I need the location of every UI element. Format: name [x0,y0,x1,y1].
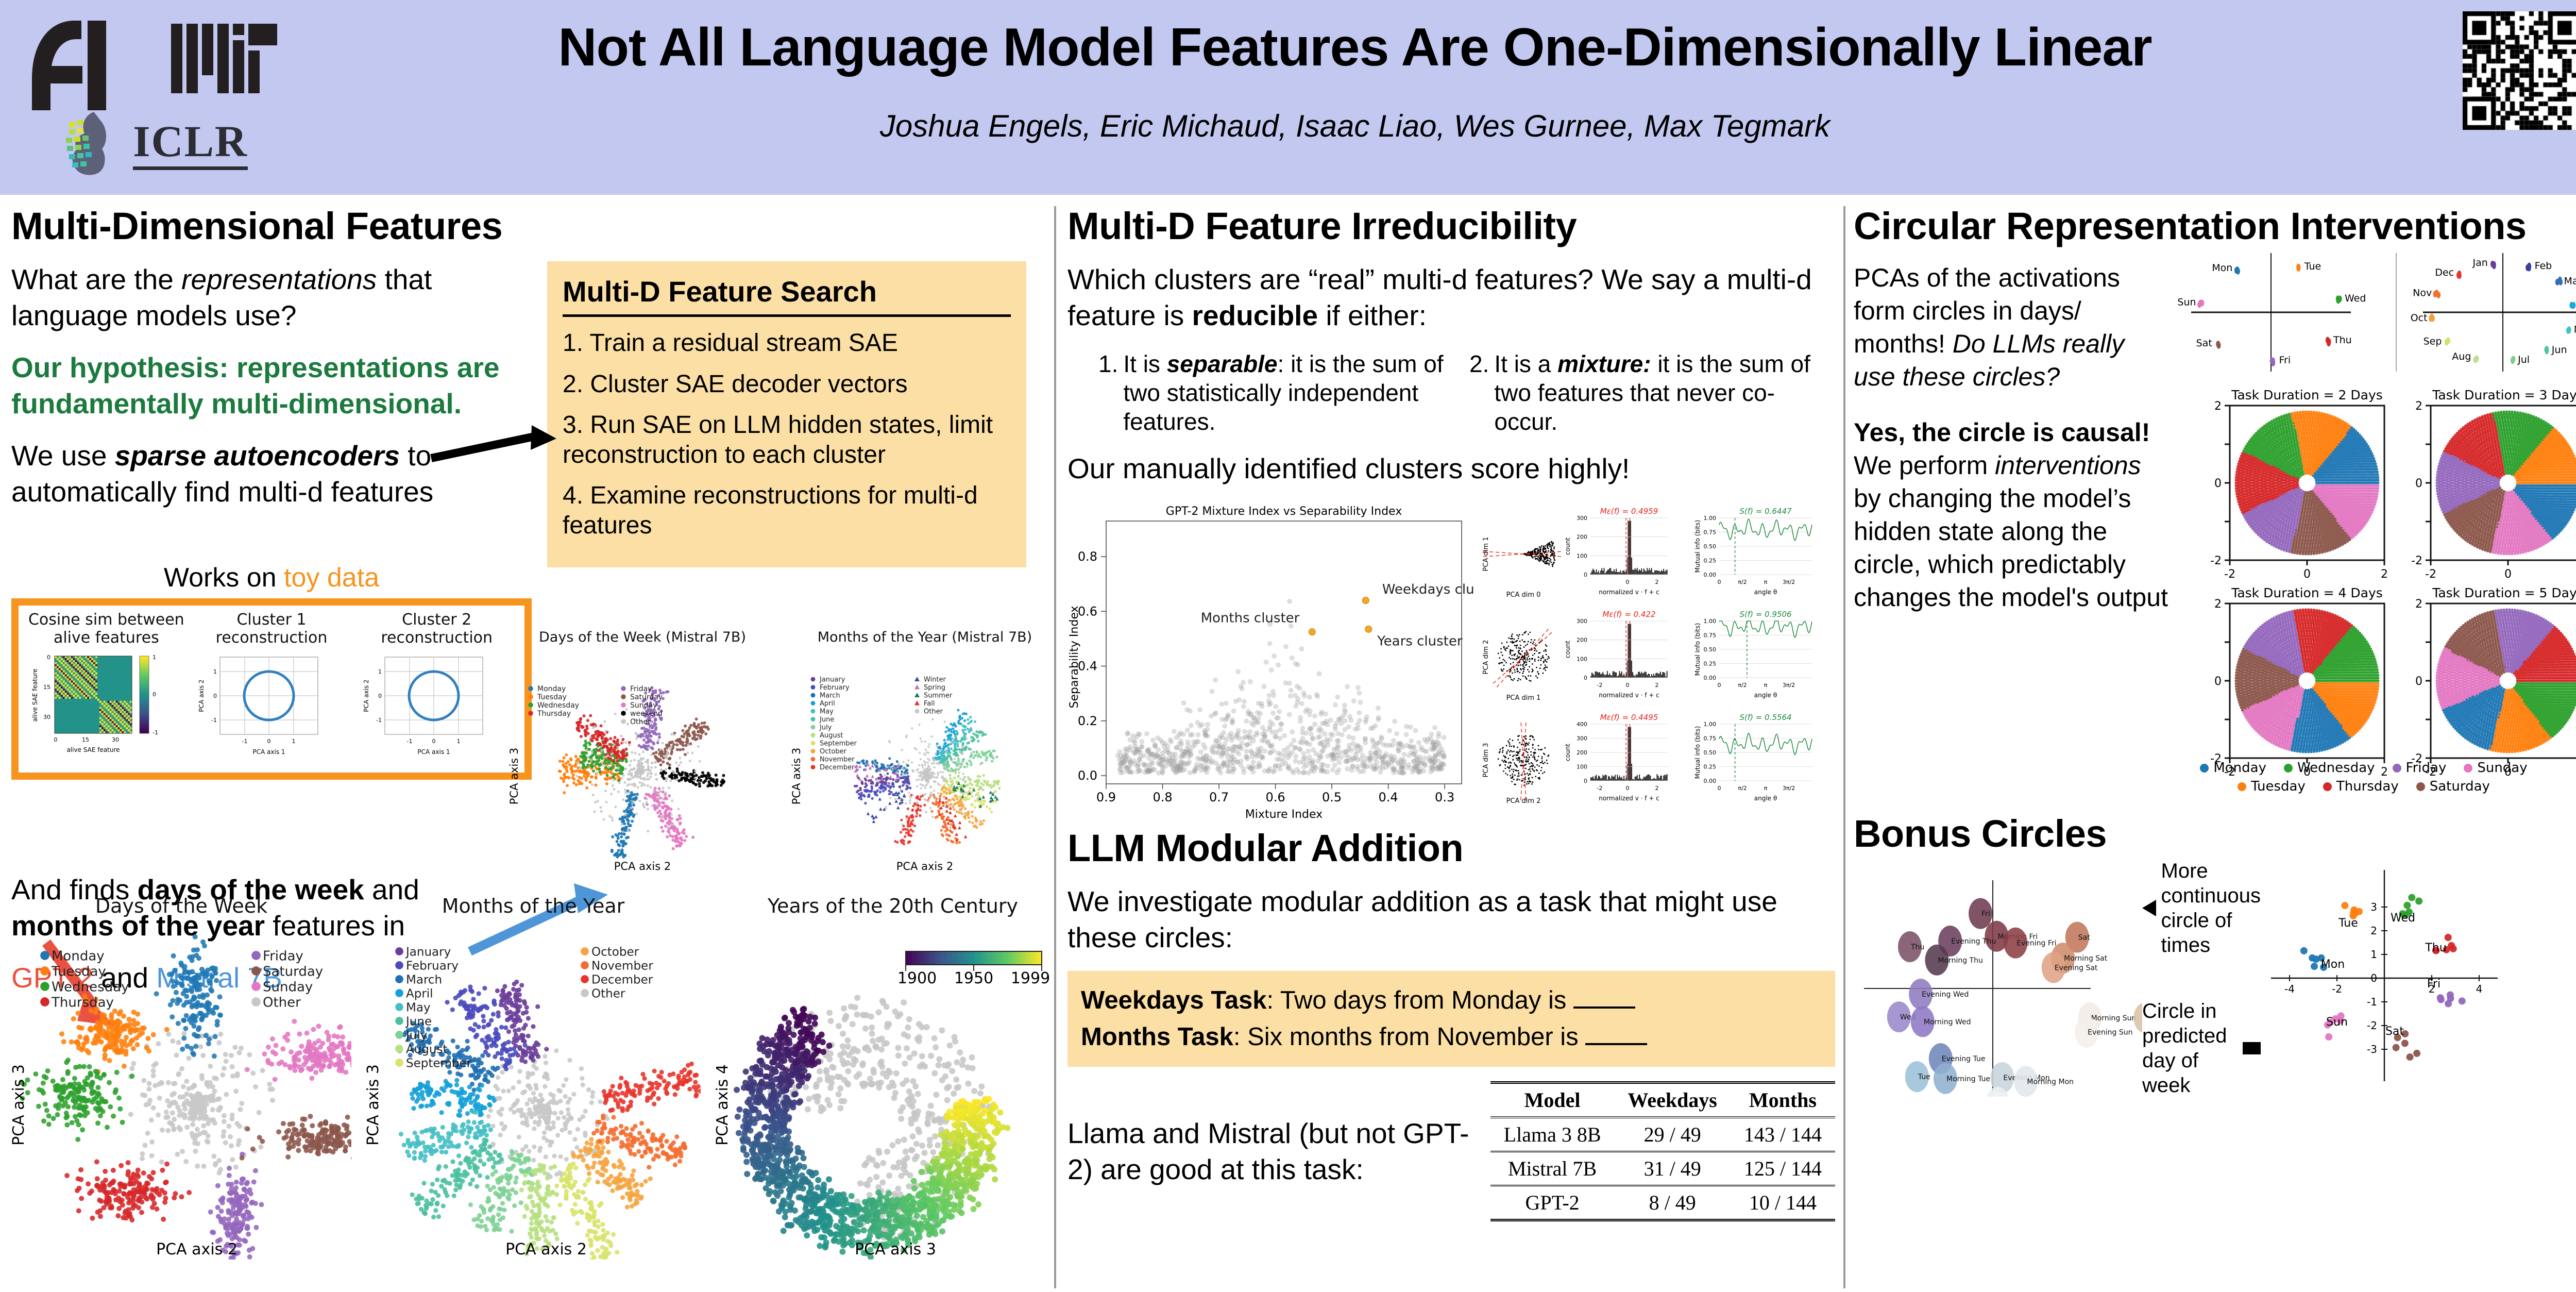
legend-item: Monday [2200,760,2266,776]
svg-text:Sunday: Sunday [630,701,657,710]
mini-panels-svg: PCA dim 1PCA dim 0Mε(f) = 0.495901002003… [1475,502,1830,812]
svg-text:1: 1 [292,738,295,745]
mistral-days-plot: Days of the Week (Mistral 7B) MondayTues… [509,629,776,874]
column-header: Model [1490,1083,1615,1118]
legend-item: Thursday [2323,779,2399,794]
svg-text:Spring: Spring [924,684,945,692]
legend-label: Saturday [2430,779,2490,794]
svg-text:January: January [819,676,845,684]
axis-label-y: PCA axis 3 [791,748,803,804]
cluster2-svg: 1 0 -1 -1 0 1 PCA axis 1 PCA axis 2 [354,649,509,767]
legend-item: Tuesday [2238,779,2306,794]
svg-text:Other: Other [630,718,651,726]
bonus-predicted-day-plot: -4-224-3-2-10123MonTueWedThuFriSatSun [2261,860,2503,1097]
section-heading-multi-dimensional-features: Multi-Dimensional Features [11,204,1047,248]
poster-root: ICLR Not All Language Model Features Are… [0,0,2576,1292]
toy-data-figure: Cosine sim between alive features 0 15 3… [11,598,532,780]
svg-text:PCA axis 1: PCA axis 1 [418,748,450,756]
svg-text:August: August [820,732,843,740]
axis-label-x: PCA axis 2 [896,860,953,872]
callout-rule [563,314,1011,317]
legend-color-dot [2200,764,2209,773]
svg-text:Thursday: Thursday [537,710,571,718]
heatmap-svg: 0 15 30 0 15 30 alive SAE feature alive … [24,649,189,767]
svg-text:0: 0 [267,738,270,745]
svg-text:0: 0 [432,738,436,745]
paragraph-pca-circles: PCAs of the activations form circles in … [1854,261,2168,393]
legend-item: Friday [2393,760,2447,776]
definition-separable: 1. It is separable: it is the sum of two… [1098,349,1449,436]
svg-text:30: 30 [112,736,119,743]
list-item: 4. Examine reconstructions for multi-d f… [563,481,1011,540]
iclr-logo: ICLR [62,108,278,180]
callout-step-list: 1. Train a residual stream SAE 2. Cluste… [563,328,1011,541]
cluster1-svg: 1 0 -1 -1 0 1 PCA axis 1 PCA axis 2 [189,649,344,767]
svg-text:Winter: Winter [924,676,946,684]
bonus-note-continuous: More continuous circle of times [2161,859,2261,958]
axis-label-y: PCA axis 4 [715,1064,732,1146]
arrow-right-icon [2242,1033,2261,1064]
svg-text:0: 0 [213,693,217,699]
axis-label-y: PCA axis 3 [11,1064,28,1146]
column-header: Weekdays [1615,1083,1731,1118]
plot-title: Days of the Week [11,895,351,917]
plot-title: Months of the Year (Mistral 7B) [791,629,1059,645]
svg-text:July: July [819,724,832,732]
legend-color-dot [2464,764,2472,773]
blank-underline [1585,1043,1647,1045]
scatter-svg: GPT-2 Mixture Index vs Separability Inde… [1067,502,1475,822]
legend-label: Thursday [2336,779,2399,794]
plot-title: Cluster 2 reconstruction [354,611,519,647]
mistral-days-svg: MondayTuesdayWednesdayThursdayFridaySatu… [509,647,776,874]
legend-label: Wednesday [2297,760,2375,776]
axis-label-x: PCA axis 3 [855,1240,936,1259]
list-item: 1. Train a residual stream SAE [563,328,1011,358]
toy-cluster1-reconstruction: Cluster 1 reconstruction 1 0 [189,611,354,767]
plot-title: Cluster 1 reconstruction [189,611,354,647]
svg-text:Friday: Friday [630,685,652,693]
axis-label-y: PCA axis 3 [509,748,520,804]
svg-text:Summer: Summer [924,692,953,700]
toy-cluster2-reconstruction: Cluster 2 reconstruction 1 0 [354,611,519,767]
bonus-times-circle-plot: FriMorning FriEvening FriEvening ThuThuM… [1854,860,2142,1097]
axis-label-x: PCA axis 2 [614,860,671,872]
days-months-quadrant-plots: MonTueWedThuFriSatSun JanFebMarAprMayJun… [2168,248,2576,377]
list-item: 2. Cluster SAE decoder vectors [563,370,1011,399]
results-table: Model Weekdays Months Llama 3 8B 29 / 49… [1490,1081,1835,1221]
years-svg: 190019501999 PCA axis 3 PCA axis 4 [715,919,1071,1260]
svg-text:October: October [820,748,847,756]
page-title: Not All Language Model Features Are One-… [330,20,2380,76]
months-task: Months Task: Six months from November is [1081,1019,1822,1055]
svg-text:April: April [820,700,835,708]
iclr-label: ICLR [133,119,248,170]
svg-text:1: 1 [213,668,217,675]
bonus-note-predicted: Circle in predicted day of week [2142,999,2236,1098]
legend-label: Friday [2406,760,2447,776]
irreducibility-mini-panels: PCA dim 1PCA dim 0Mε(f) = 0.495901002003… [1475,502,1830,812]
callout-title: Multi-D Feature Search [563,275,1011,308]
gpt2-months-plot: Months of the Year JanuaryFebruaryMarchA… [366,895,701,1260]
section-heading-modular-addition: LLM Modular Addition [1067,826,1835,870]
qr-code[interactable] [2463,11,2576,130]
svg-text:alive SAE feature: alive SAE feature [66,746,120,753]
svg-text:-1: -1 [152,729,158,736]
arrow-to-callout-icon [429,421,557,467]
author-list: Joshua Engels, Eric Michaud, Isaac Liao,… [330,108,2380,144]
column-header: Months [1731,1083,1835,1118]
poster-header: ICLR Not All Language Model Features Are… [0,0,2576,195]
gpt2-days-plot: Days of the Week MondayTuesdayWednesdayT… [11,895,351,1260]
gpt2-months-svg: JanuaryFebruaryMarchAprilMayJuneJulyAugu… [366,919,701,1260]
column-divider-2 [1843,206,1845,1288]
plot-title: Cosine sim between alive features [24,611,189,647]
years-plot: Years of the 20th Century 190019501999 P… [715,895,1071,1260]
svg-text:Saturday: Saturday [630,693,663,701]
section-heading-interventions: Circular Representation Interventions [1854,204,2576,248]
legend-color-dot [2416,782,2425,791]
mistral-months-svg: JanuaryFebruaryMarchAprilMayJuneJulyAugu… [791,647,1059,874]
column-multi-dimensional-features: Multi-Dimensional Features What are the … [11,204,1047,780]
plot-title: Months of the Year [366,895,701,917]
mistral-months-plot: Months of the Year (Mistral 7B) JanuaryF… [791,629,1059,874]
svg-text:November: November [820,756,855,764]
svg-text:Tuesday: Tuesday [537,693,567,701]
callout-multi-d-feature-search: Multi-D Feature Search 1. Train a residu… [547,261,1026,567]
paragraph-causal: Yes, the circle is causal! We perform in… [1854,416,2168,614]
arrow-left-icon [2142,893,2156,924]
table-row: Mistral 7B 31 / 49 125 / 144 [1490,1152,1835,1186]
gpt2-figure-row: Days of the Week MondayTuesdayWednesdayT… [11,895,1057,1260]
mistral-figure-pair: Days of the Week (Mistral 7B) MondayTues… [509,629,1055,874]
axis-label-x: PCA axis 2 [156,1240,238,1259]
svg-text:weekend: weekend [630,710,663,718]
legend-color-dot [2284,764,2293,773]
mit-logo [170,20,289,97]
axis-label-y: Separability Index [1068,606,1081,708]
svg-text:-1: -1 [211,717,217,724]
svg-text:15: 15 [43,684,50,691]
legend-label: Monday [2213,760,2266,776]
svg-text:February: February [820,684,850,692]
legend-label: Sunday [2477,760,2527,776]
legend-color-dot [2323,782,2332,791]
paragraph-representations: What are the representations that langua… [11,261,527,334]
svg-text:1: 1 [378,668,382,675]
toy-cosine-sim-heatmap: Cosine sim between alive features 0 15 3… [24,611,189,767]
svg-text:Wednesday: Wednesday [537,701,579,710]
svg-text:1: 1 [457,738,461,745]
mixture-separability-scatter: GPT-2 Mixture Index vs Separability Inde… [1067,502,1475,822]
plot-title: Days of the Week (Mistral 7B) [509,629,776,645]
svg-text:Other: Other [924,708,943,716]
svg-text:Fall: Fall [924,700,935,708]
paragraph-model-performance: Llama and Mistral (but not GPT-2) are go… [1067,1115,1475,1188]
svg-text:PCA axis 2: PCA axis 2 [363,679,370,712]
legend-item: Wednesday [2284,760,2375,776]
weekdays-task: Weekdays Task: Two days from Monday is [1081,982,1822,1019]
task-duration-wheels: Task Duration = 2 Days-202-202Task Durat… [2168,377,2576,789]
legend-item: Saturday [2416,779,2490,794]
plot-title: GPT-2 Mixture Index vs Separability Inde… [1166,505,1402,518]
legend-label: Tuesday [2251,779,2306,794]
legend-color-dot [2238,782,2246,791]
legend-color-dot [2393,764,2401,773]
paragraph-score-highly: Our manually identified clusters score h… [1067,450,1835,486]
svg-text:0: 0 [54,736,58,743]
iclr-blob-icon [62,111,124,178]
gpt2-days-svg: MondayTuesdayWednesdayThursdayFridaySatu… [11,919,351,1260]
section-heading-bonus-circles: Bonus Circles [1854,812,2576,855]
legend-item: Sunday [2464,760,2527,776]
table-row: Llama 3 8B 29 / 49 143 / 144 [1490,1117,1835,1152]
svg-text:30: 30 [43,714,50,720]
svg-text:September: September [820,740,857,748]
definition-mixture: 2. It is a mixture: it is the sum of two… [1469,349,1820,436]
svg-text:1: 1 [152,654,156,661]
column-interventions: Circular Representation Interventions PC… [1854,204,2576,1098]
svg-text:June: June [819,716,834,724]
svg-text:PCA axis 2: PCA axis 2 [198,679,205,712]
svg-text:March: March [820,692,840,700]
svg-text:-1: -1 [242,738,247,745]
svg-text:0: 0 [152,691,156,698]
axis-label-x: PCA axis 2 [505,1240,587,1259]
svg-text:15: 15 [82,736,89,743]
svg-text:-1: -1 [376,717,382,724]
paragraph-hypothesis: Our hypothesis: representations are fund… [11,349,527,422]
svg-text:-1: -1 [407,738,413,745]
paragraph-reducible-definition: Which clusters are “real” multi-d featur… [1067,261,1835,334]
column-irreducibility: Multi-D Feature Irreducibility Which clu… [1067,204,1835,1221]
axis-label-x: Mixture Index [1245,808,1323,821]
svg-text:alive SAE feature: alive SAE feature [31,668,39,721]
table-row: GPT-2 8 / 49 10 / 144 [1490,1186,1835,1220]
svg-text:PCA axis 1: PCA axis 1 [252,748,285,756]
plot-title: Years of the 20th Century [715,895,1071,917]
axis-label-y: PCA axis 3 [366,1064,382,1146]
task-callout: Weekdays Task: Two days from Monday is M… [1067,971,1835,1067]
svg-text:May: May [820,708,834,716]
svg-text:0: 0 [47,654,50,661]
list-item: 3. Run SAE on LLM hidden states, limit r… [563,410,1011,469]
ai-institute-logo [21,16,149,114]
section-heading-irreducibility: Multi-D Feature Irreducibility [1067,204,1835,248]
svg-text:0: 0 [378,693,382,699]
paragraph-modular-intro: We investigate modular addition as a tas… [1067,883,1835,956]
blank-underline [1573,1006,1635,1009]
svg-text:December: December [820,764,855,771]
svg-text:Monday: Monday [537,685,566,693]
